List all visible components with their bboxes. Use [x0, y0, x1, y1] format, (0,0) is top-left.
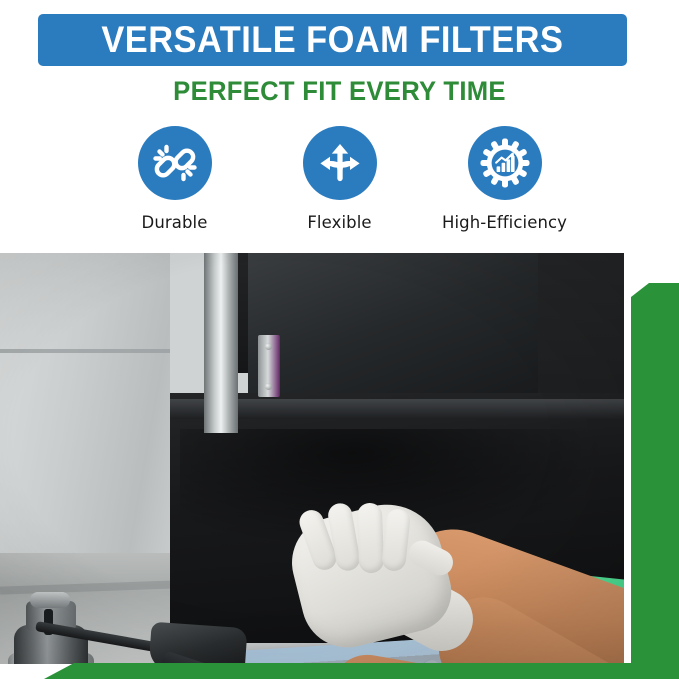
accent-bar-bottom — [0, 663, 679, 679]
three-way-arrows-icon — [316, 139, 364, 187]
feature-flexible: Flexible — [257, 126, 422, 232]
header-banner: VERSATILE FOAM FILTERS — [38, 14, 627, 66]
gear-bar-chart-icon — [480, 138, 530, 188]
feature-durable: Durable — [92, 126, 257, 232]
feature-label-high-efficiency: High-Efficiency — [442, 213, 567, 232]
infographic-root: VERSATILE FOAM FILTERS PERFECT FIT EVERY… — [0, 0, 679, 679]
photo-vignette — [0, 253, 624, 664]
feature-icon-circle — [303, 126, 377, 200]
subtitle: PERFECT FIT EVERY TIME — [17, 76, 662, 107]
feature-list: Durable — [0, 126, 679, 246]
product-photo — [0, 253, 624, 664]
page-title: VERSATILE FOAM FILTERS — [101, 19, 563, 61]
feature-icon-circle — [138, 126, 212, 200]
feature-icon-circle — [468, 126, 542, 200]
chain-link-sparkle-icon — [151, 139, 199, 187]
accent-bar-right — [631, 283, 679, 679]
feature-label-durable: Durable — [142, 213, 208, 232]
feature-label-flexible: Flexible — [307, 213, 371, 232]
feature-high-efficiency: High-Efficiency — [422, 126, 587, 232]
